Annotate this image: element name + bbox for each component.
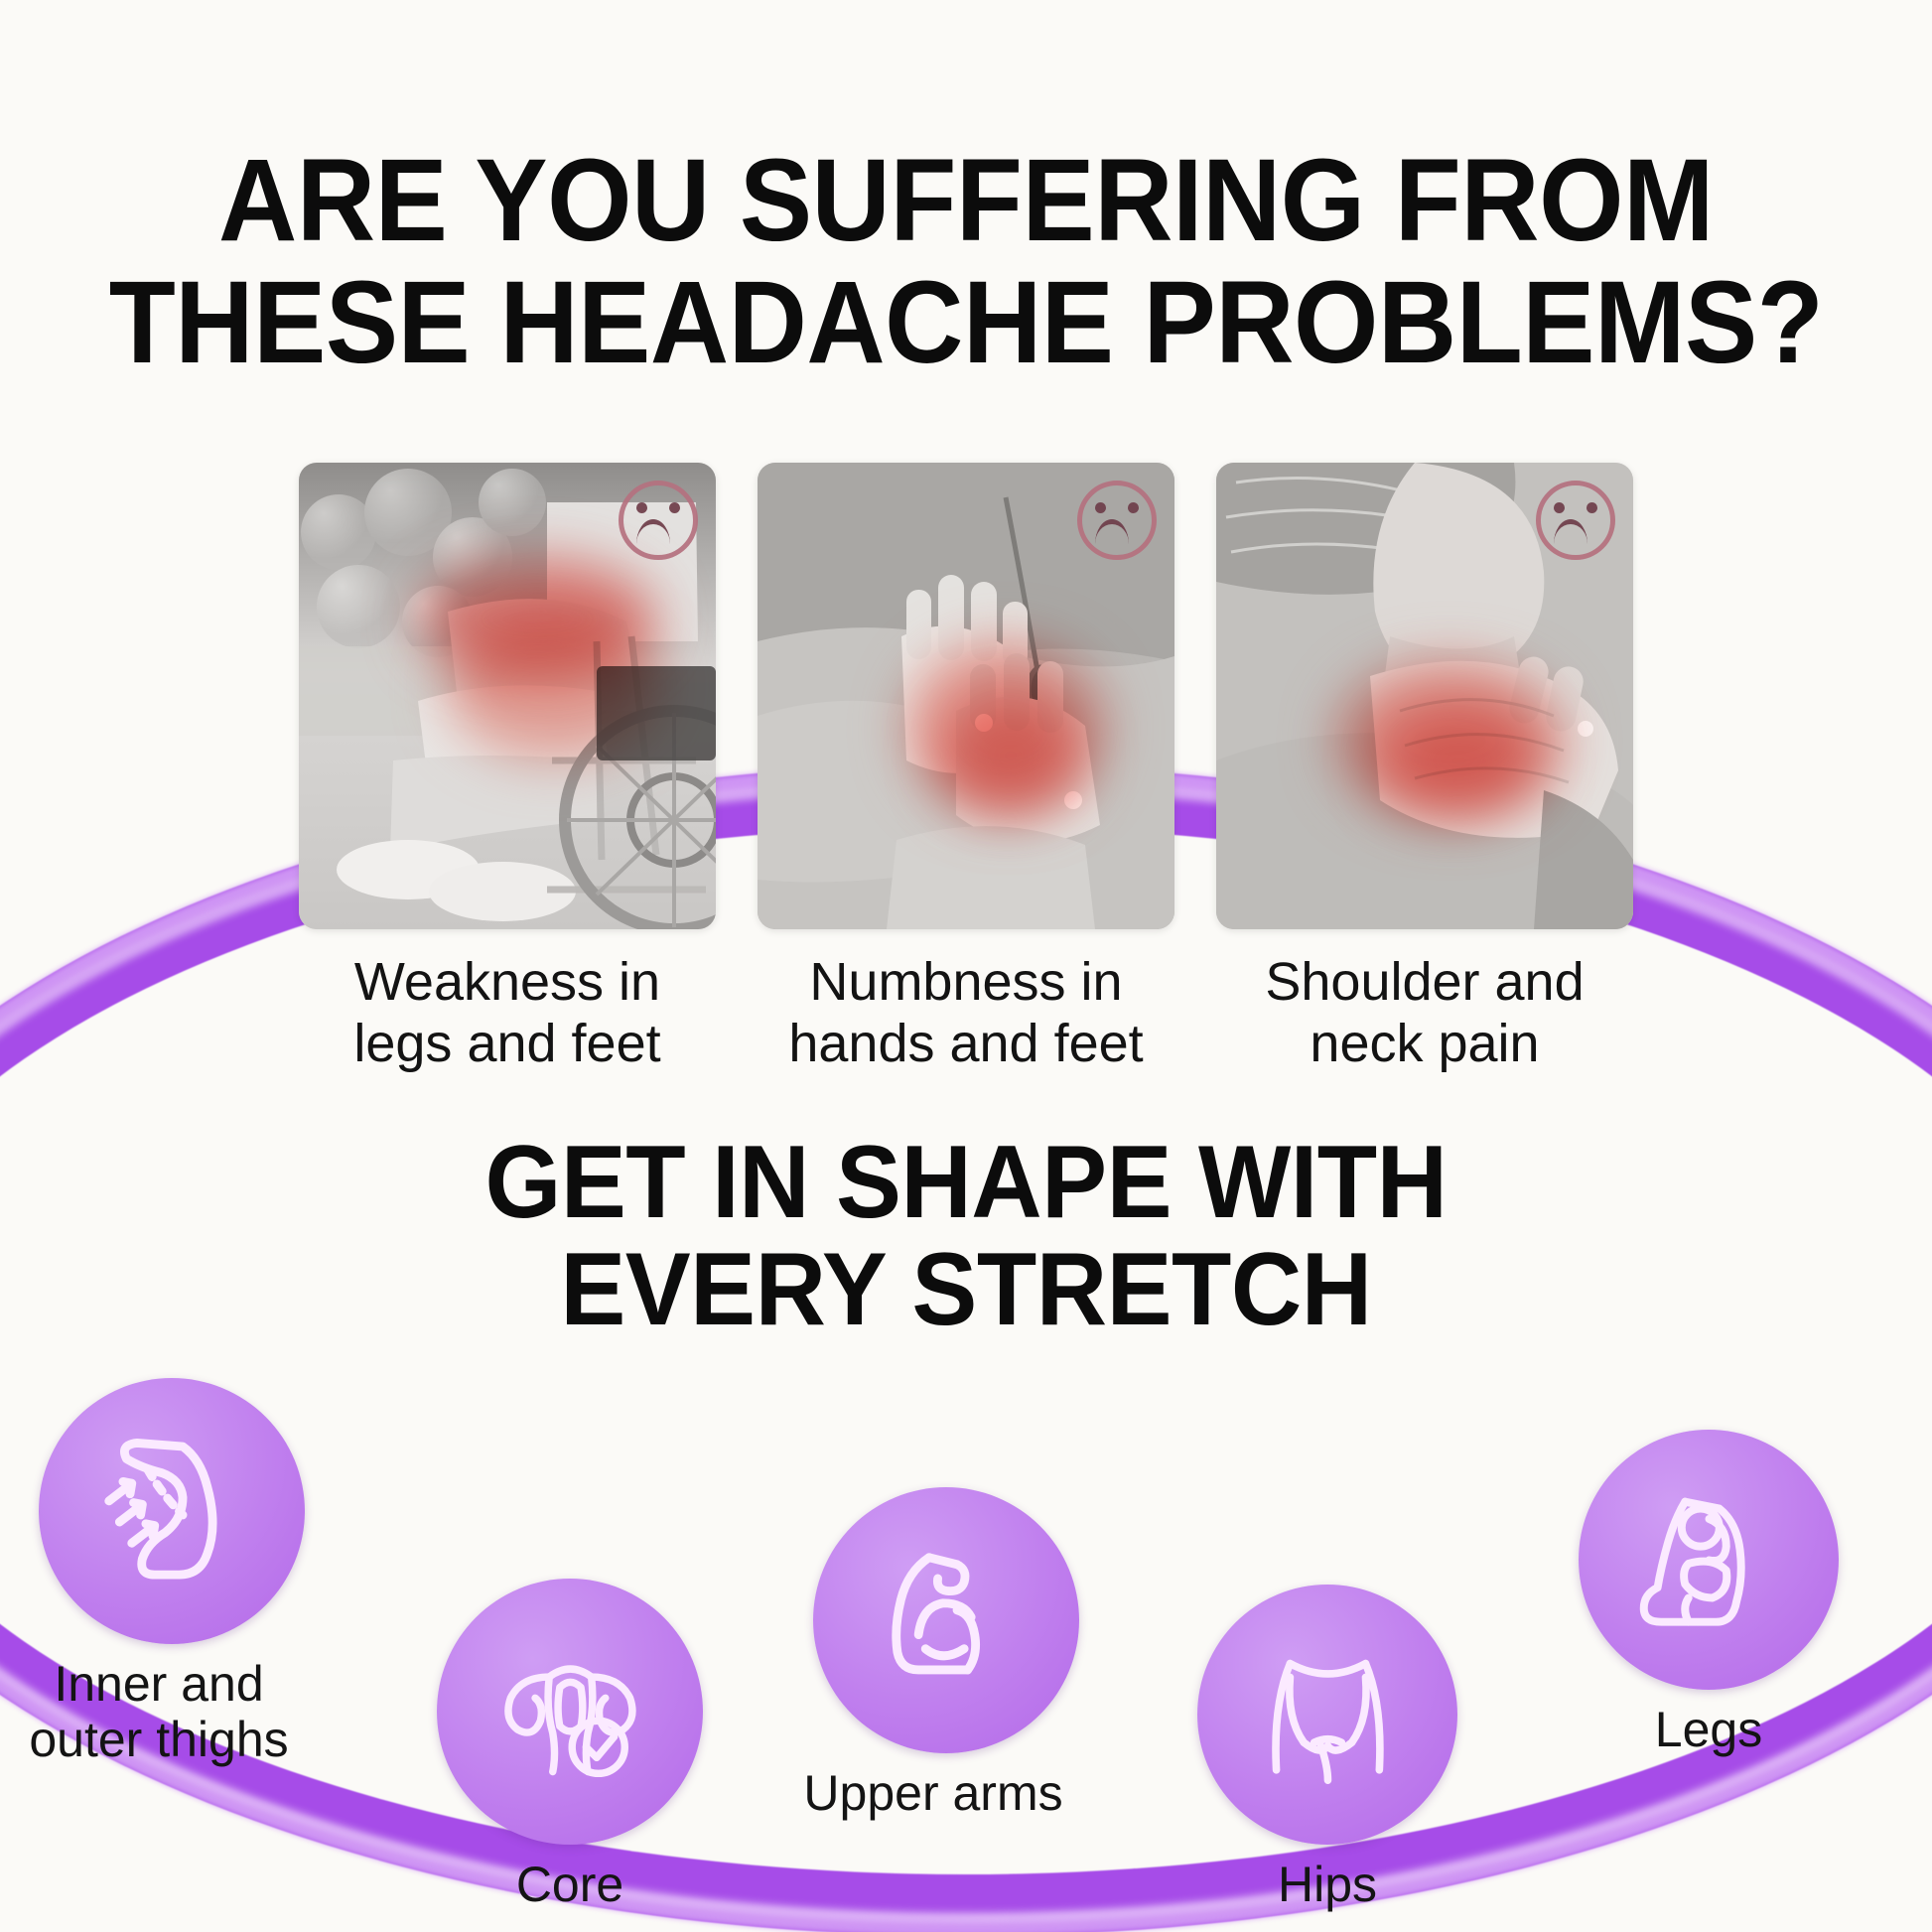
problem-card-list: Weakness in legs and feet [0,463,1932,1075]
sad-face-right-eye [669,502,680,513]
caption-line-1: Shoulder and [1216,951,1633,1014]
sad-face-left-eye [1095,502,1106,513]
benefit-icon-circle [39,1378,305,1644]
benefit-icon-circle [1579,1430,1839,1690]
pain-highlight [941,696,1080,815]
section-subtitle: GET IN SHAPE WITH EVERY STRETCH [49,1129,1884,1343]
sad-face-icon [1536,481,1615,560]
caption-line-1: Numbness in [758,951,1174,1014]
caption-line-1: Weakness in [299,951,716,1014]
sad-face-right-eye [1128,502,1139,513]
page-title-line-1: ARE YOU SUFFERING FROM [68,140,1864,262]
benefit-label: Core [437,1857,703,1912]
benefit-label: Upper arms [774,1765,1092,1821]
benefit-item-hips: Hips [1197,1585,1457,1912]
infographic-canvas: ARE YOU SUFFERING FROM THESE HEADACHE PR… [0,0,1932,1932]
sad-face-frown [636,519,670,544]
benefit-label: Hips [1197,1857,1457,1912]
problem-card: Numbness in hands and feet [758,463,1174,1075]
benefit-label: Inner and outer thighs [0,1656,318,1767]
problem-photo-wheelchair [299,463,716,929]
benefit-list: Inner and outer thighs Core [0,1376,1932,1932]
sad-face-left-eye [1554,502,1565,513]
sad-face-frown [1095,519,1129,544]
problem-card-caption: Weakness in legs and feet [299,951,716,1075]
caption-line-2: neck pain [1216,1013,1633,1075]
sad-face-frown [1554,519,1587,544]
benefit-item-thighs: Inner and outer thighs [26,1378,318,1767]
sad-face-icon [1077,481,1157,560]
sad-face-right-eye [1587,502,1597,513]
problem-photo-neck [1216,463,1633,929]
page-title: ARE YOU SUFFERING FROM THESE HEADACHE PR… [68,78,1864,383]
benefit-icon-circle [1197,1585,1457,1845]
sad-face-left-eye [636,502,647,513]
caption-line-2: legs and feet [299,1013,716,1075]
benefit-item-core: Core [437,1579,703,1912]
subtitle-line-1: GET IN SHAPE WITH [49,1129,1884,1236]
pain-highlight [448,612,661,760]
subtitle-line-2: EVERY STRETCH [49,1236,1884,1343]
hips-outline-icon [1242,1629,1414,1801]
problem-photo-hands [758,463,1174,929]
benefit-icon-circle [813,1487,1079,1753]
flexed-bicep-icon [859,1533,1035,1709]
caption-line-2: hands and feet [758,1013,1174,1075]
page-title-line-2: THESE HEADACHE PROBLEMS? [68,262,1864,384]
pain-highlight [1380,706,1539,815]
problem-card: Shoulder and neck pain [1216,463,1633,1075]
core-organ-check-icon [483,1624,658,1800]
problem-card-caption: Shoulder and neck pain [1216,951,1633,1075]
thigh-arrows-icon [84,1424,260,1599]
benefit-item-upper-arms: Upper arms [800,1487,1092,1821]
problem-card-caption: Numbness in hands and feet [758,951,1174,1075]
seated-stretch-figure-icon [1623,1474,1795,1646]
benefit-label: Legs [1579,1702,1839,1757]
benefit-item-legs: Legs [1579,1430,1839,1757]
problem-card: Weakness in legs and feet [299,463,716,1075]
benefit-icon-circle [437,1579,703,1845]
sad-face-icon [619,481,698,560]
